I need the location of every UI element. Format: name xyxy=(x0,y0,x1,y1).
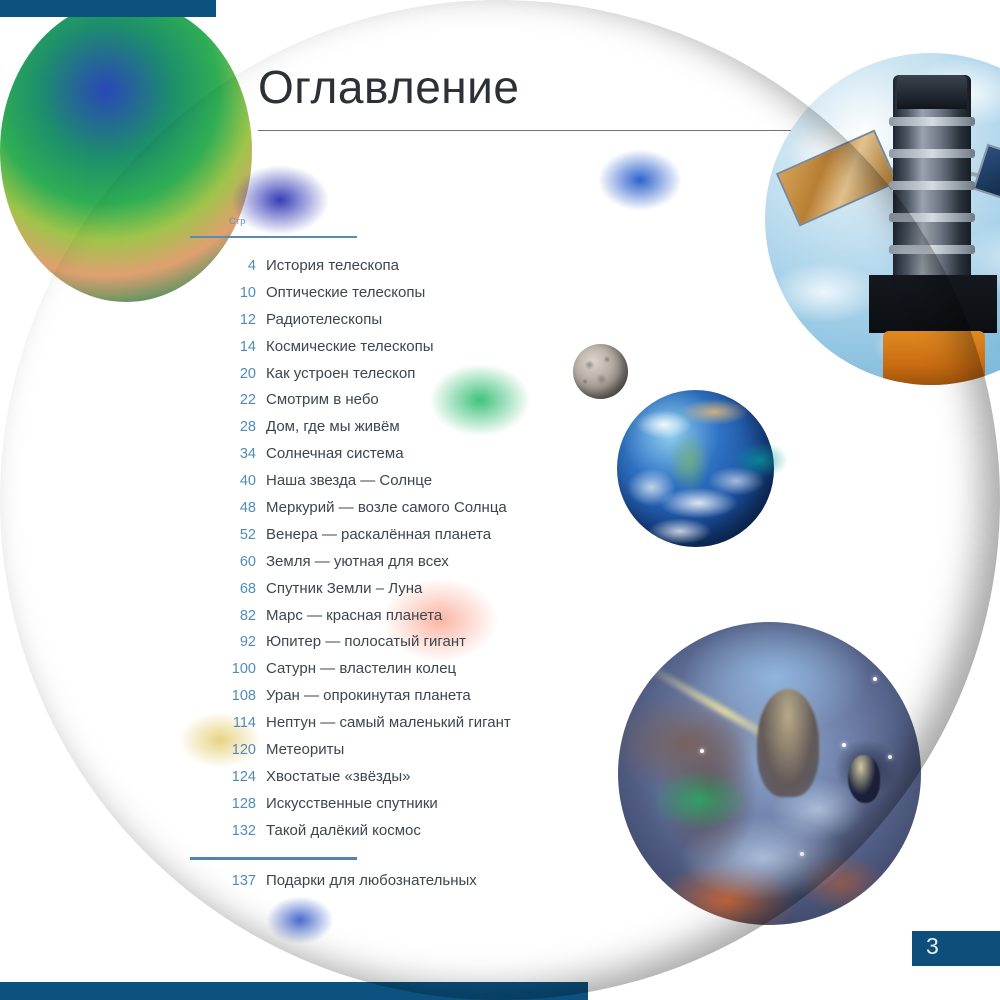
toc-entry-page-number: 132 xyxy=(190,823,256,839)
toc-entry-page-number: 124 xyxy=(190,769,256,785)
toc-entry-title: Такой далёкий космос xyxy=(256,822,421,839)
toc-entry-page-number: 12 xyxy=(190,312,256,328)
toc-entry-page-number: 20 xyxy=(190,366,256,382)
toc-entry-page-number: 120 xyxy=(190,742,256,758)
toc-entry-page-number: 100 xyxy=(190,661,256,677)
toc-entry-title: Сатурн — властелин колец xyxy=(256,660,456,677)
toc-entry-row[interactable]: 12Радиотелескопы xyxy=(190,311,710,338)
toc-entry-title: Подарки для любознательных xyxy=(256,872,477,889)
toc-entry-title: Юпитер — полосатый гигант xyxy=(256,633,466,650)
toc-entry-title: Как устроен телескоп xyxy=(256,365,415,382)
toc-entry-page-number: 137 xyxy=(190,873,256,889)
toc-entry-title: Метеориты xyxy=(256,741,344,758)
page-column-header: Стр xyxy=(229,216,246,226)
toc-entry-row[interactable]: 40Наша звезда — Солнце xyxy=(190,472,710,499)
toc-page: Оглавление Стр 4История телескопа10Оптич… xyxy=(0,0,1000,1000)
toc-entry-row[interactable]: 10Оптические телескопы xyxy=(190,284,710,311)
toc-entry-title: Земля — уютная для всех xyxy=(256,553,449,570)
toc-top-rule xyxy=(190,236,357,238)
toc-entry-page-number: 108 xyxy=(190,688,256,704)
toc-bottom-rule xyxy=(190,857,357,860)
toc-entry-row[interactable]: 34Солнечная система xyxy=(190,445,710,472)
toc-entry-page-number: 22 xyxy=(190,392,256,408)
page-number-text: 3 xyxy=(926,935,939,958)
toc-entry-page-number: 68 xyxy=(190,581,256,597)
toc-entry-row[interactable]: 132Такой далёкий космос xyxy=(190,822,710,849)
toc-entry-row[interactable]: 124Хвостатые «звёзды» xyxy=(190,768,710,795)
toc-entry-title: Дом, где мы живём xyxy=(256,418,400,435)
toc-entry-title: Оптические телескопы xyxy=(256,284,425,301)
toc-entry-title: Уран — опрокинутая планета xyxy=(256,687,471,704)
page-title: Оглавление xyxy=(258,64,792,110)
toc-entry-title: Марс — красная планета xyxy=(256,607,442,624)
toc-entry-row[interactable]: 92Юпитер — полосатый гигант xyxy=(190,633,710,660)
toc-entry-title: Нептун — самый маленький гигант xyxy=(256,714,511,731)
toc-extra-entry-list: 137Подарки для любознательных xyxy=(190,872,710,898)
toc-entry-row[interactable]: 82Марс — красная планета xyxy=(190,607,710,634)
toc-entry-title: Венера — раскалённая планета xyxy=(256,526,491,543)
toc-entry-page-number: 48 xyxy=(190,500,256,516)
toc-entry-row[interactable]: 100Сатурн — властелин колец xyxy=(190,660,710,687)
toc-entry-row[interactable]: 14Космические телескопы xyxy=(190,338,710,365)
toc-entry-title: Наша звезда — Солнце xyxy=(256,472,432,489)
toc-entry-page-number: 92 xyxy=(190,634,256,650)
toc-entry-page-number: 52 xyxy=(190,527,256,543)
toc-entry-page-number: 114 xyxy=(190,715,256,731)
toc-entry-title: Хвостатые «звёзды» xyxy=(256,768,410,785)
toc-entry-page-number: 60 xyxy=(190,554,256,570)
toc-entry-row[interactable]: 48Меркурий — возле самого Солнца xyxy=(190,499,710,526)
toc-entry-title: Меркурий — возле самого Солнца xyxy=(256,499,507,516)
toc-entry-row[interactable]: 52Венера — раскалённая планета xyxy=(190,526,710,553)
toc-entry-title: Радиотелескопы xyxy=(256,311,382,328)
toc-entry-row[interactable]: 108Уран — опрокинутая планета xyxy=(190,687,710,714)
toc-entry-page-number: 14 xyxy=(190,339,256,355)
toc-entry-row[interactable]: 137Подарки для любознательных xyxy=(190,872,710,898)
toc-entry-row[interactable]: 128Искусственные спутники xyxy=(190,795,710,822)
toc-entry-title: Космические телескопы xyxy=(256,338,434,355)
title-underline-rule xyxy=(258,130,791,131)
toc-entry-page-number: 4 xyxy=(190,258,256,274)
toc-entry-page-number: 40 xyxy=(190,473,256,489)
toc-entry-page-number: 34 xyxy=(190,446,256,462)
toc-entry-page-number: 82 xyxy=(190,608,256,624)
page-title-block: Оглавление xyxy=(258,64,792,110)
toc-entry-row[interactable]: 68Спутник Земли – Луна xyxy=(190,580,710,607)
toc-entry-list: 4История телескопа10Оптические телескопы… xyxy=(190,257,710,849)
toc-entry-title: История телескопа xyxy=(256,257,399,274)
toc-entry-row[interactable]: 114Нептун — самый маленький гигант xyxy=(190,714,710,741)
toc-entry-page-number: 128 xyxy=(190,796,256,812)
toc-entry-row[interactable]: 60Земля — уютная для всех xyxy=(190,553,710,580)
toc-entry-row[interactable]: 4История телескопа xyxy=(190,257,710,284)
toc-entry-title: Искусственные спутники xyxy=(256,795,438,812)
toc-entry-page-number: 10 xyxy=(190,285,256,301)
page-number-badge: 3 xyxy=(912,931,1000,966)
toc-entry-title: Смотрим в небо xyxy=(256,391,379,408)
toc-entry-row[interactable]: 28Дом, где мы живём xyxy=(190,418,710,445)
toc-entry-row[interactable]: 20Как устроен телескоп xyxy=(190,365,710,392)
toc-entry-title: Спутник Земли – Луна xyxy=(256,580,422,597)
toc-entry-row[interactable]: 120Метеориты xyxy=(190,741,710,768)
toc-entry-page-number: 28 xyxy=(190,419,256,435)
toc-entry-row[interactable]: 22Смотрим в небо xyxy=(190,391,710,418)
toc-entry-title: Солнечная система xyxy=(256,445,404,462)
